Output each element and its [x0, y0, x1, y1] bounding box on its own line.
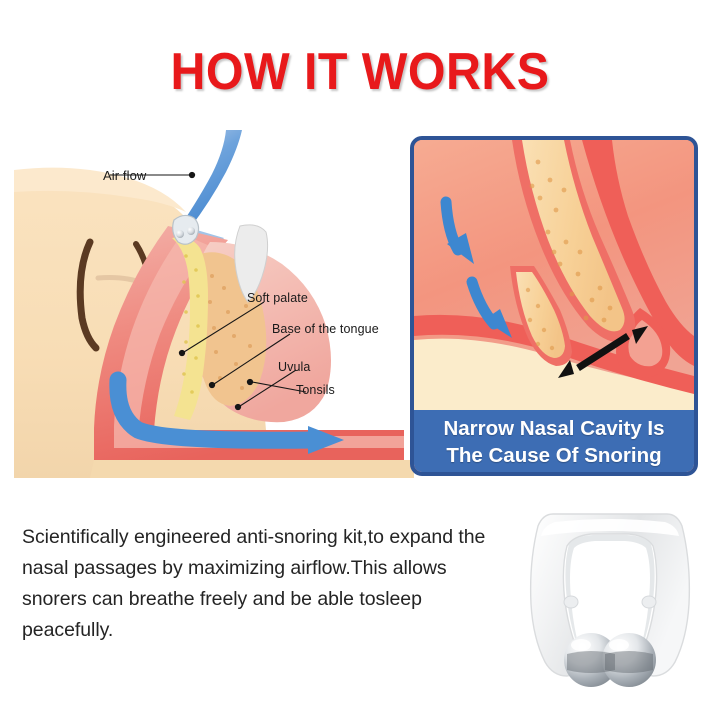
page-title: HOW IT WORKS	[25, 42, 695, 102]
description-paragraph: Scientifically engineered anti-snoring k…	[22, 522, 492, 646]
right-magnet-highlight	[609, 639, 629, 651]
left-nub	[564, 596, 578, 608]
left-magnet-highlight	[571, 639, 591, 651]
nose-clip-svg	[505, 492, 715, 692]
nasal-cavity-closeup-svg	[414, 140, 694, 418]
chin-skin	[90, 460, 414, 478]
inset-caption-line-1: Narrow Nasal Cavity Is	[414, 415, 694, 442]
label-tonsils: Tonsils	[296, 383, 335, 397]
right-magnet-reflection	[605, 651, 653, 673]
nose-clip-device-icon	[173, 215, 199, 244]
infographic-page: HOW IT WORKS	[0, 0, 720, 720]
head-cross-section-svg	[14, 130, 414, 478]
anti-snoring-nose-clip	[505, 492, 715, 692]
label-base-of-tongue: Base of the tongue	[272, 322, 379, 336]
narrow-nasal-cavity-panel: Narrow Nasal Cavity Is The Cause Of Snor…	[410, 136, 698, 476]
right-nub	[642, 596, 656, 608]
inset-caption: Narrow Nasal Cavity Is The Cause Of Snor…	[414, 410, 694, 472]
head-cross-section-diagram	[14, 130, 414, 478]
label-air-flow: Air flow	[103, 168, 146, 183]
label-soft-palate: Soft palate	[247, 291, 308, 305]
inset-caption-line-2: The Cause Of Snoring	[414, 442, 694, 469]
label-uvula: Uvula	[278, 360, 310, 374]
